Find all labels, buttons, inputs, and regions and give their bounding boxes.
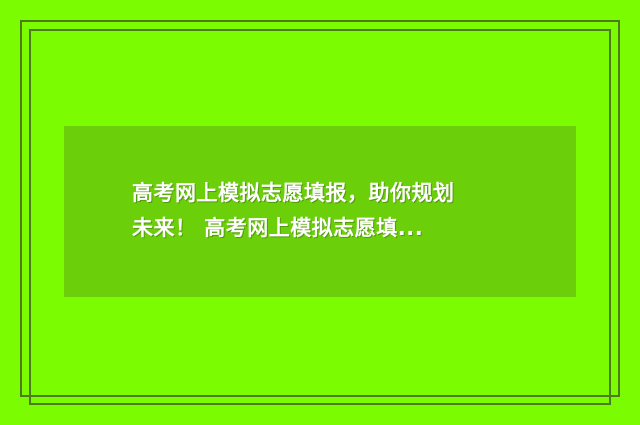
- headline-line-1: 高考网上模拟志愿填报，助你规划: [132, 176, 552, 211]
- headline-text: 高考网上模拟志愿填报，助你规划 未来！ 高考网上模拟志愿填...: [132, 176, 552, 246]
- poster-canvas: 高考网上模拟志愿填报，助你规划 未来！ 高考网上模拟志愿填...: [0, 0, 640, 425]
- headline-line-2: 未来！ 高考网上模拟志愿填...: [132, 211, 552, 246]
